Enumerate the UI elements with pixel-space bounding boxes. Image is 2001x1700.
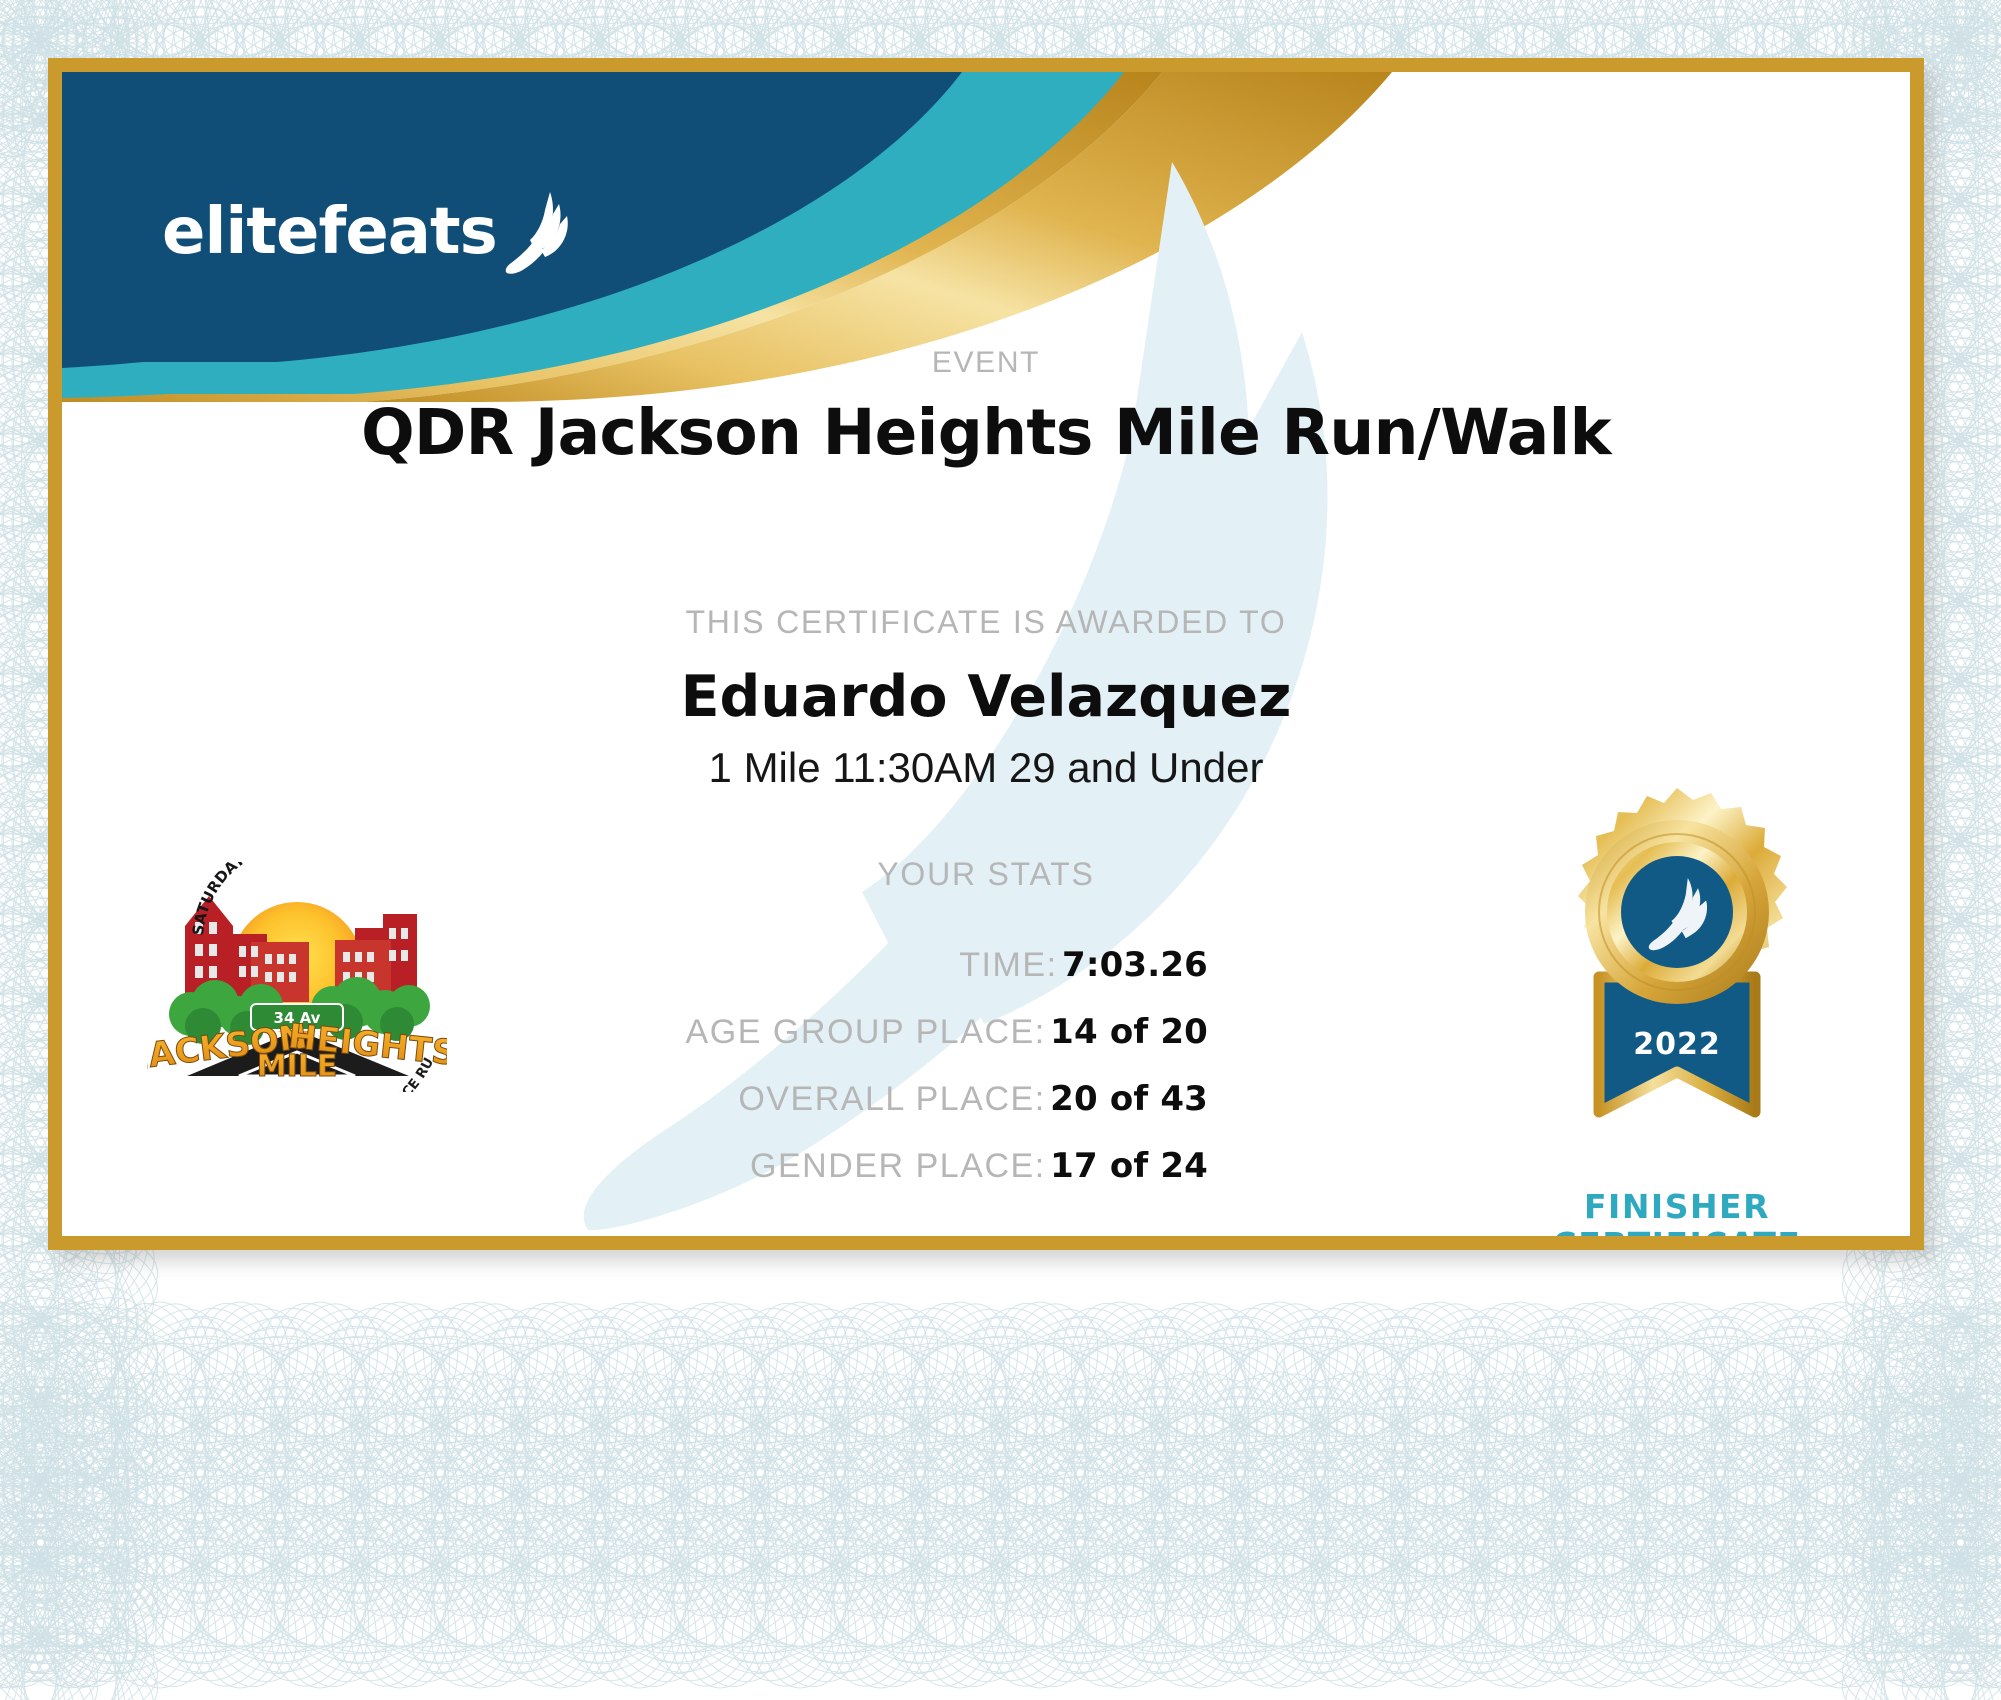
stat-key: TIME:	[959, 946, 1057, 984]
stat-row-overall-place: OVERALL PLACE: 20 of 43	[362, 1066, 1208, 1133]
badge-caption-line-2: CERTIFICATE	[1517, 1226, 1837, 1250]
awarded-to-label: THIS CERTIFICATE IS AWARDED TO	[62, 604, 1910, 641]
stat-value: 14 of 20	[1050, 1012, 1208, 1052]
badge-year: 2022	[1633, 1027, 1721, 1062]
stat-value: 17 of 24	[1050, 1146, 1208, 1186]
elitefeats-wordmark: elitefeats	[162, 204, 497, 262]
stats-list: TIME: 7:03.26 AGE GROUP PLACE: 14 of 20 …	[362, 932, 1208, 1200]
stat-row-gender-place: GENDER PLACE: 17 of 24	[362, 1133, 1208, 1200]
badge-caption-line-1: FINISHER	[1517, 1188, 1837, 1226]
stat-key: OVERALL PLACE:	[738, 1080, 1045, 1118]
stat-value: 20 of 43	[1050, 1079, 1208, 1119]
stat-key: AGE GROUP PLACE:	[686, 1013, 1046, 1051]
badge-caption: FINISHER CERTIFICATE	[1517, 1188, 1837, 1250]
elitefeats-logo: elitefeats	[162, 190, 573, 262]
jackson-heights-mile-race-logo: SATURDAY 8.27.2022 34 Av	[147, 862, 447, 1092]
stat-row-age-group-place: AGE GROUP PLACE: 14 of 20	[362, 999, 1208, 1066]
certificate-page: elitefeats EVENT QDR Jackso	[0, 0, 2001, 1700]
winged-foot-icon	[503, 190, 573, 276]
certificate-card: elitefeats EVENT QDR Jackso	[48, 58, 1924, 1250]
stat-value: 7:03.26	[1062, 945, 1208, 985]
finisher-badge: 2022	[1517, 782, 1837, 1250]
event-title: QDR Jackson Heights Mile Run/Walk	[62, 396, 1910, 469]
stat-row-time: TIME: 7:03.26	[362, 932, 1208, 999]
finisher-badge-graphic: 2022	[1537, 782, 1817, 1182]
svg-text:MILE: MILE	[257, 1049, 338, 1084]
stat-key: GENDER PLACE:	[750, 1147, 1046, 1185]
athlete-name: Eduardo Velazquez	[62, 664, 1910, 730]
event-label: EVENT	[62, 346, 1910, 380]
